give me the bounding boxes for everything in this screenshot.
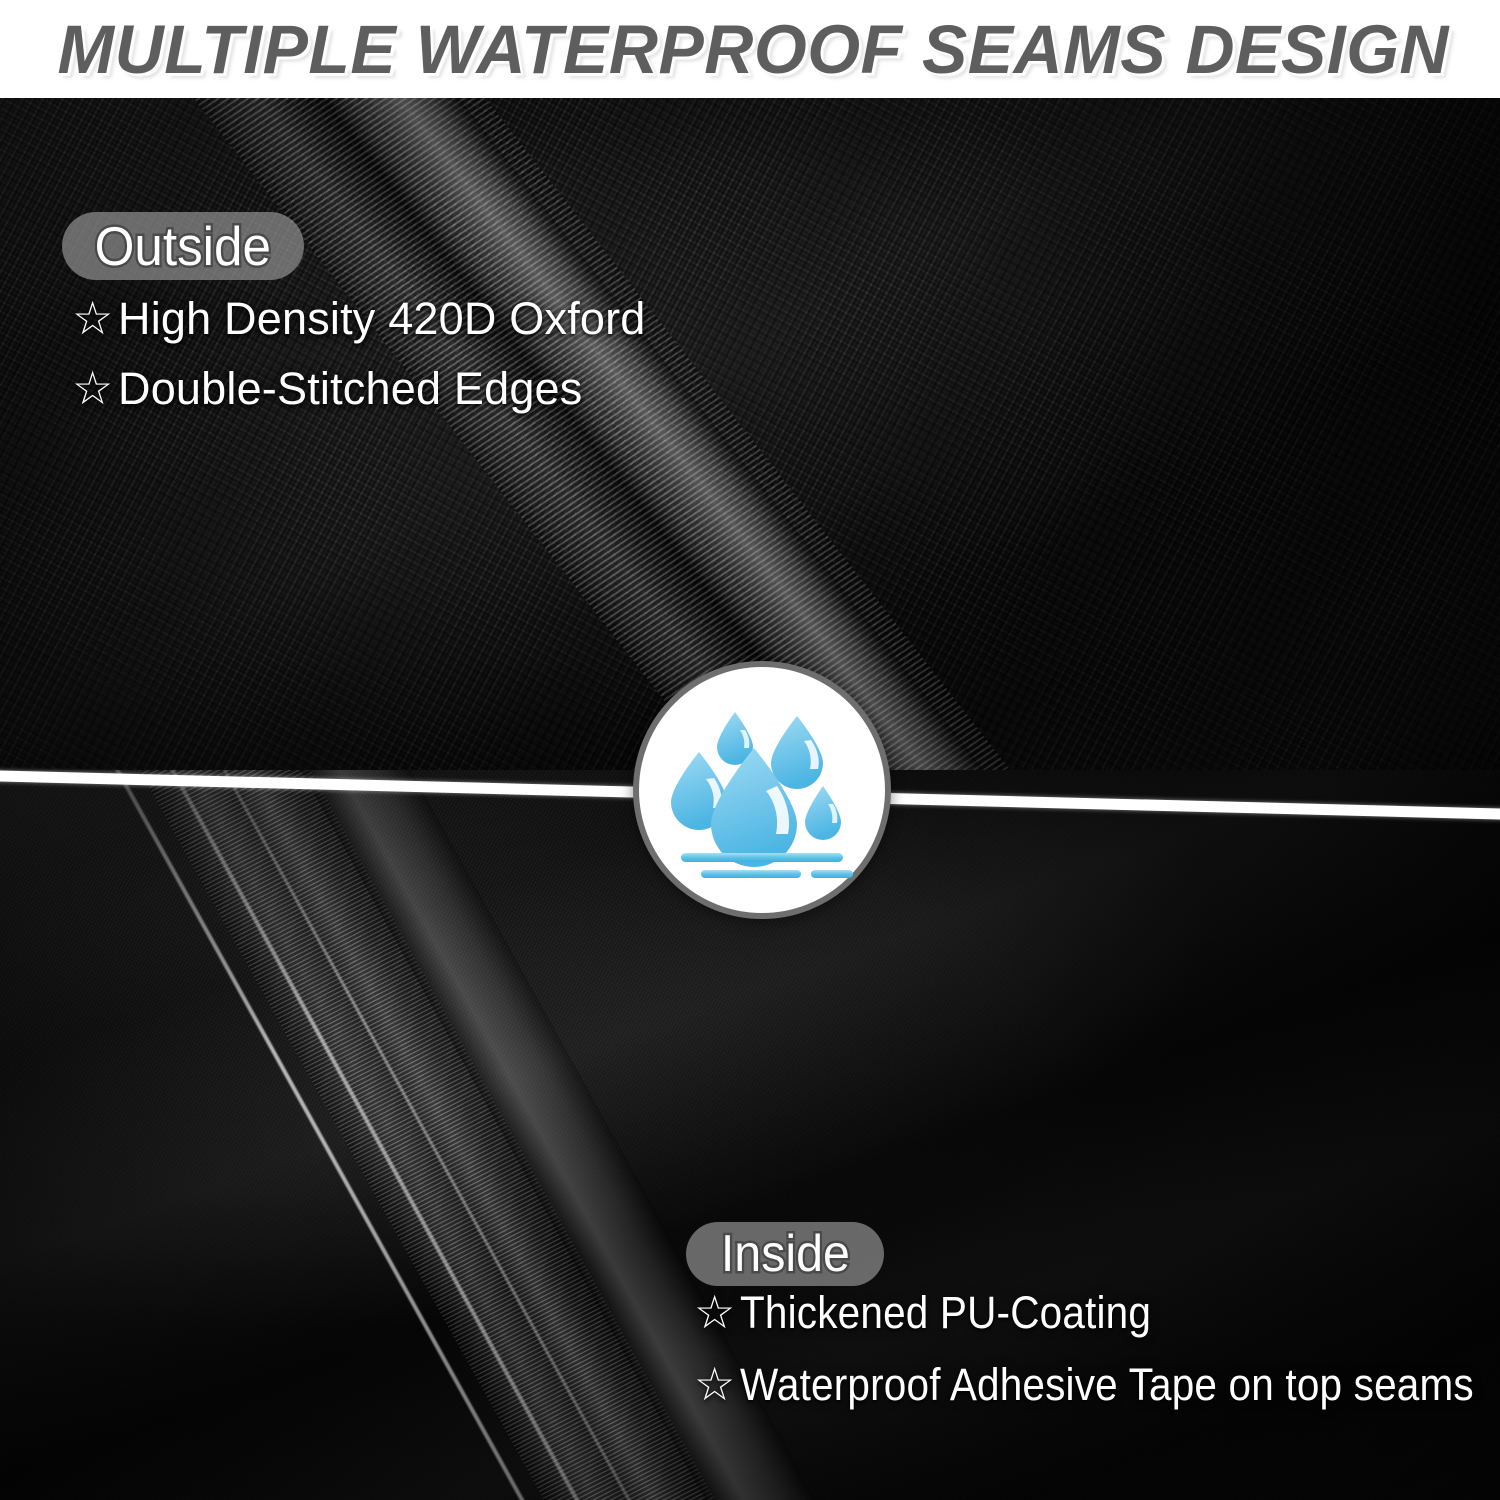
- inside-badge-label: Inside: [720, 1228, 849, 1280]
- list-item: ☆ Thickened PU-Coating: [694, 1282, 1500, 1344]
- star-icon: ☆: [72, 365, 118, 411]
- waterproof-droplets-icon: [633, 661, 891, 919]
- water-line-medium: [701, 870, 801, 878]
- droplet-small-right: [805, 786, 841, 840]
- list-item-label: Thickened PU-Coating: [740, 1282, 1151, 1344]
- outside-badge: Outside: [62, 212, 304, 280]
- page-title: MULTIPLE WATERPROOF SEAMS DESIGN: [51, 10, 1448, 89]
- water-line-long: [681, 853, 843, 862]
- outside-feature-list: ☆ High Density 420D Oxford ☆ Double-Stit…: [72, 288, 646, 428]
- star-icon: ☆: [72, 295, 118, 341]
- list-item-label: Waterproof Adhesive Tape on top seams: [740, 1354, 1474, 1416]
- list-item-label: Double-Stitched Edges: [118, 358, 582, 420]
- list-item: ☆ Double-Stitched Edges: [72, 358, 646, 420]
- droplet-medium-right: [771, 716, 823, 789]
- list-item: ☆ High Density 420D Oxford: [72, 288, 646, 350]
- star-icon: ☆: [694, 1361, 740, 1407]
- water-line-short: [811, 870, 853, 878]
- header-banner: MULTIPLE WATERPROOF SEAMS DESIGN: [0, 0, 1500, 98]
- inside-badge: Inside: [686, 1222, 884, 1286]
- product-feature-image: MULTIPLE WATERPROOF SEAMS DESIGN Outside: [0, 0, 1500, 1500]
- list-item: ☆ Waterproof Adhesive Tape on top seams: [694, 1354, 1500, 1416]
- list-item-label: High Density 420D Oxford: [118, 288, 646, 350]
- outside-badge-label: Outside: [95, 219, 271, 274]
- star-icon: ☆: [694, 1289, 740, 1335]
- inside-feature-list: ☆ Thickened PU-Coating ☆ Waterproof Adhe…: [694, 1282, 1500, 1426]
